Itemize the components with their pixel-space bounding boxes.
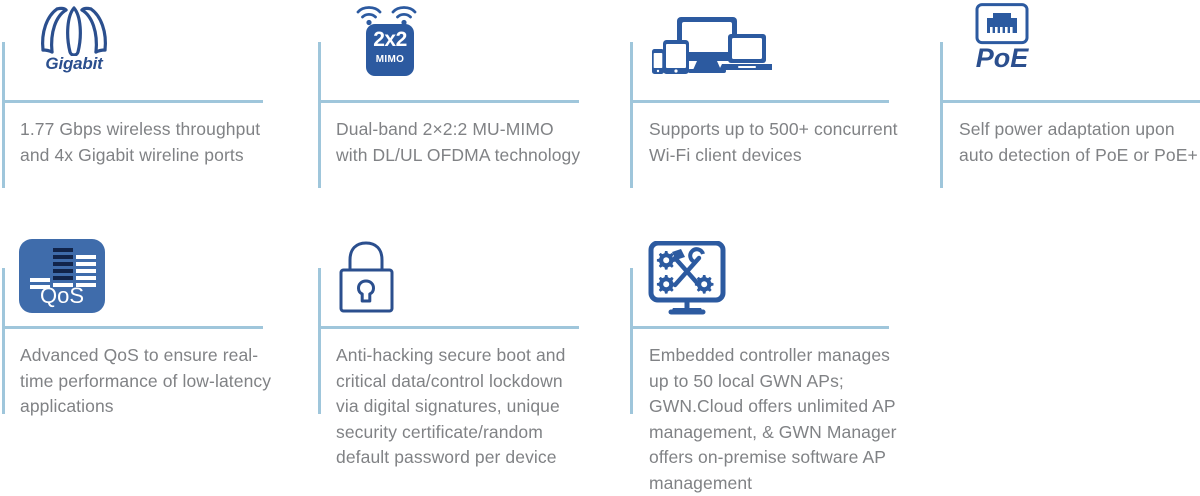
card-horizontal-rule [940, 100, 1200, 103]
poe-rj45-icon: PoE [963, 3, 1041, 83]
feature-description: Supports up to 500+ concurrent Wi-Fi cli… [649, 117, 899, 168]
eq-bar [76, 269, 96, 273]
rj45-jack-glyph [963, 3, 1041, 45]
card-horizontal-rule [630, 100, 889, 103]
feature-description: Self power adaptation upon auto detectio… [959, 117, 1199, 168]
feature-description: Embedded controller manages up to 50 loc… [649, 343, 899, 496]
card-vertical-rule [630, 268, 633, 414]
feature-description: Anti-hacking secure boot and critical da… [336, 343, 588, 471]
eq-bar-dark [53, 269, 73, 273]
eq-bar-dark [53, 276, 73, 280]
gigabit-icon: Gigabit [26, 6, 122, 84]
feature-description: Advanced QoS to ensure real-time perform… [20, 343, 275, 420]
multi-device-icon [652, 16, 772, 83]
eq-bar-dark [53, 255, 73, 259]
gigabit-icon-label: Gigabit [26, 54, 122, 74]
qos-equalizer-icon: QoS [19, 239, 107, 315]
eq-bar [76, 276, 96, 280]
feature-grid: Gigabit 1.77 Gbps wireless throughput an… [0, 0, 1200, 491]
qos-badge: QoS [19, 239, 105, 313]
2x2-mimo-icon: 2x2 MIMO [353, 2, 427, 82]
card-vertical-rule [940, 42, 943, 188]
eq-bar [30, 278, 50, 282]
card-horizontal-rule [2, 326, 263, 329]
padlock-glyph [335, 240, 399, 314]
padlock-icon [335, 240, 399, 319]
card-horizontal-rule [2, 100, 263, 103]
card-vertical-rule [2, 268, 5, 414]
poe-icon-label: PoE [963, 43, 1041, 74]
card-vertical-rule [318, 268, 321, 414]
eq-bar [76, 262, 96, 266]
card-vertical-rule [630, 42, 633, 188]
card-horizontal-rule [318, 100, 579, 103]
feature-description: 1.77 Gbps wireless throughput and 4x Gig… [20, 117, 270, 168]
card-vertical-rule [2, 42, 5, 188]
card-vertical-rule [318, 42, 321, 188]
devices-glyph [652, 16, 772, 78]
monitor-tools-gears-icon [647, 241, 727, 322]
eq-bar-dark [53, 248, 73, 252]
card-horizontal-rule [318, 326, 579, 329]
monitor-gears-tools-glyph [647, 241, 727, 317]
mimo-badge: 2x2 MIMO [366, 24, 414, 76]
gigabit-antenna-glyph [26, 6, 122, 56]
eq-bar [76, 255, 96, 259]
mimo-badge-value: 2x2 [366, 28, 414, 52]
mimo-badge-sublabel: MIMO [366, 54, 414, 65]
card-horizontal-rule [630, 326, 889, 329]
eq-bar-dark [53, 262, 73, 266]
feature-description: Dual-band 2×2:2 MU-MIMO with DL/UL OFDMA… [336, 117, 586, 168]
qos-badge-label: QoS [19, 283, 105, 309]
